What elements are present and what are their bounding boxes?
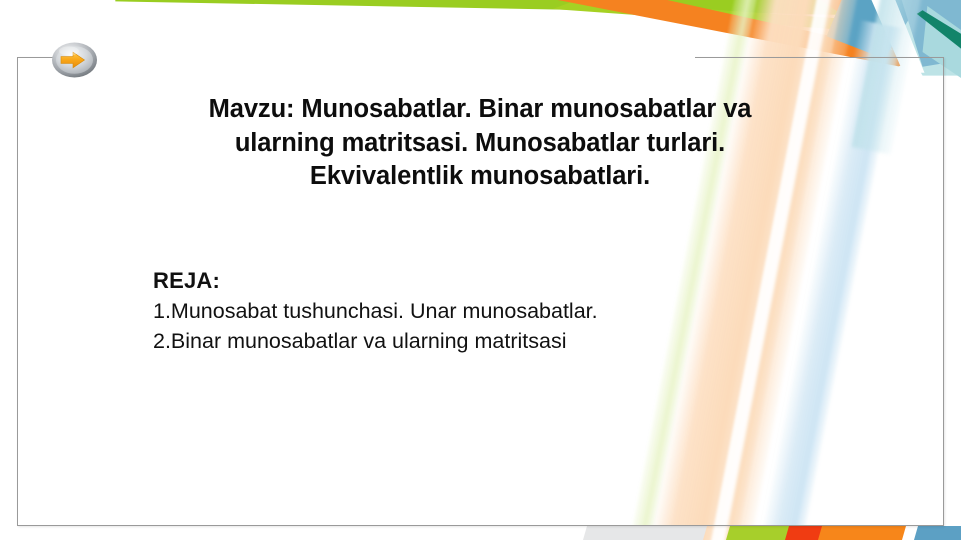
page-title: Mavzu: Munosabatlar. Binar munosabatlar …	[100, 93, 860, 194]
stripe-red	[785, 526, 826, 540]
stripe-gray	[583, 526, 707, 540]
agenda-heading: REJA:	[153, 266, 853, 296]
steel-blue-triangle	[0, 0, 961, 60]
agenda-item-2: 2.Binar munosabatlar va ularning matrits…	[153, 326, 853, 357]
page-title-line-2: ularning matritsasi. Munosabatlar turlar…	[100, 127, 860, 161]
agenda-block: REJA: 1.Munosabat tushunchasi. Unar muno…	[153, 266, 853, 357]
page-title-line-1: Mavzu: Munosabatlar. Binar munosabatlar …	[100, 93, 860, 127]
stripe-green	[726, 526, 792, 540]
stripe-blue	[914, 526, 961, 540]
agenda-item-1: 1.Munosabat tushunchasi. Unar munosabatl…	[153, 296, 853, 327]
arrow-right-badge-icon	[51, 41, 98, 79]
frame-top-border-gap	[78, 52, 695, 62]
stripe-orange	[818, 526, 906, 540]
page-title-line-3: Ekvivalentlik munosabatlari.	[100, 160, 860, 194]
presentation-slide: Mavzu: Munosabatlar. Binar munosabatlar …	[0, 0, 961, 540]
